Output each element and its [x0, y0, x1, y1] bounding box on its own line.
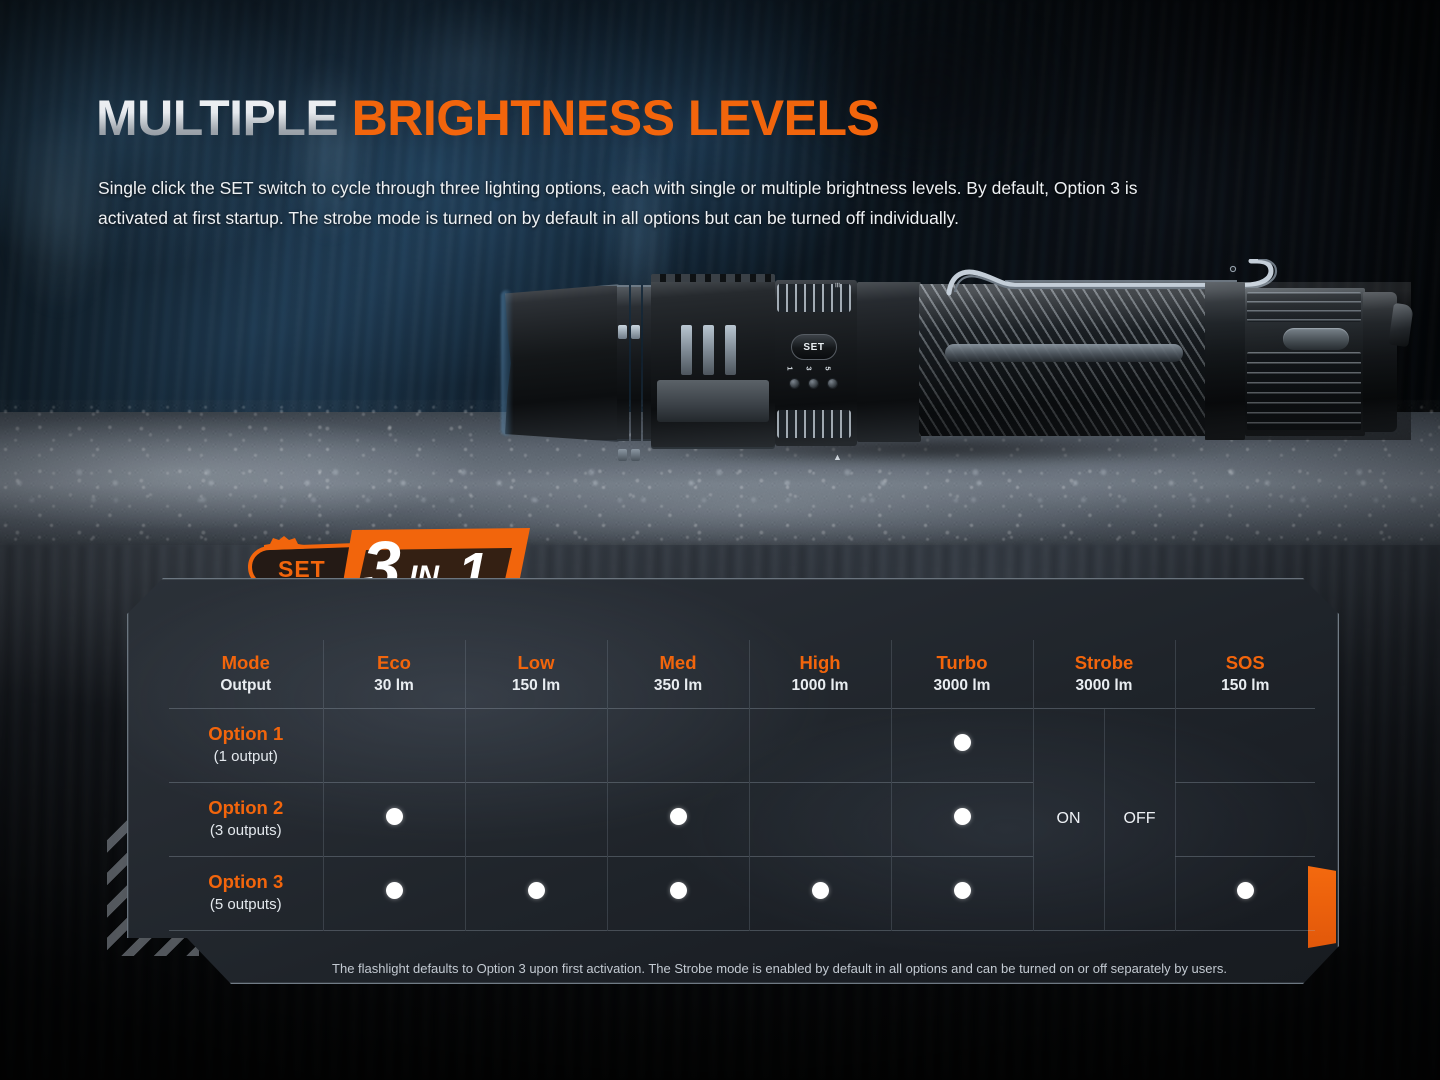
mark-dot	[1237, 882, 1254, 899]
midsection-plate	[657, 380, 769, 422]
column-header-eco: Eco 30 lm	[323, 640, 465, 708]
cell-option1-turbo	[891, 708, 1033, 782]
indicator-led-5	[827, 378, 838, 389]
cell-option3-low	[465, 856, 607, 930]
page-subtitle: Single click the SET switch to cycle thr…	[98, 173, 1168, 233]
cell-option2-sos	[1175, 782, 1315, 856]
table-row: Option 1 (1 output) ON OFF	[169, 708, 1315, 782]
column-lumens-eco: 30 lm	[324, 675, 465, 697]
strobe-on-label: ON	[1057, 810, 1081, 828]
indicator-number-5: 5	[824, 366, 833, 370]
column-header-strobe: Strobe 3000 lm	[1033, 640, 1175, 708]
battery-tube-shading	[919, 284, 1209, 436]
column-name-high: High	[750, 651, 891, 675]
cell-option2-high	[749, 782, 891, 856]
mark-dot	[954, 808, 971, 825]
table-corner-cell: Mode Output	[169, 640, 323, 708]
cooling-slot-1	[681, 325, 692, 375]
brightness-levels-table: Mode Output Eco 30 lm Low 150 lm Med 350…	[169, 640, 1315, 931]
cooling-slot-2	[703, 325, 714, 375]
mark-dot	[954, 882, 971, 899]
column-lumens-med: 350 lm	[608, 675, 749, 697]
brightness-table-panel: Mode Output Eco 30 lm Low 150 lm Med 350…	[107, 578, 1339, 984]
product-marking-glyph: ≡	[833, 282, 843, 287]
mode-indicator-leds: 1 3 5	[789, 364, 839, 392]
cell-option3-turbo	[891, 856, 1033, 930]
flashlight-head-bezel	[505, 284, 621, 442]
cell-option2-low	[465, 782, 607, 856]
row-header-option-1: Option 1 (1 output)	[169, 708, 323, 782]
column-name-med: Med	[608, 651, 749, 675]
cell-option3-sos	[1175, 856, 1315, 930]
column-name-eco: Eco	[324, 651, 465, 675]
cell-strobe-toggle: ON OFF	[1033, 708, 1175, 930]
indicator-led-3	[808, 378, 819, 389]
option-3-name: Option 3	[169, 870, 323, 894]
set-switch-label: SET	[803, 342, 824, 353]
strobe-off-cell[interactable]: OFF	[1105, 709, 1175, 930]
collar-knurling-top	[777, 284, 851, 312]
head-ring-2	[631, 285, 641, 441]
head-ring-1	[617, 285, 629, 441]
collar-knurling-bottom	[777, 410, 851, 438]
cell-option1-high	[749, 708, 891, 782]
column-lumens-low: 150 lm	[466, 675, 607, 697]
cell-option3-high	[749, 856, 891, 930]
column-header-low: Low 150 lm	[465, 640, 607, 708]
cell-option1-med	[607, 708, 749, 782]
cooling-slot-3	[725, 325, 736, 375]
mark-dot	[386, 808, 403, 825]
set-switch-button[interactable]: SET	[791, 334, 837, 360]
column-name-low: Low	[466, 651, 607, 675]
column-name-sos: SOS	[1176, 651, 1316, 675]
column-lumens-strobe: 3000 lm	[1034, 675, 1175, 697]
cell-option1-sos	[1175, 708, 1315, 782]
head-ring-3	[643, 285, 651, 441]
cell-option3-med	[607, 856, 749, 930]
column-header-turbo: Turbo 3000 lm	[891, 640, 1033, 708]
option-2-sub: (3 outputs)	[169, 820, 323, 842]
mark-dot	[954, 734, 971, 751]
page-title: MULTIPLE BRIGHTNESS LEVELS	[96, 93, 879, 143]
option-2-name: Option 2	[169, 796, 323, 820]
mark-dot	[528, 882, 545, 899]
cell-option1-low	[465, 708, 607, 782]
indicator-number-1: 1	[786, 366, 795, 370]
column-name-turbo: Turbo	[892, 651, 1033, 675]
mode-header-title: Mode	[169, 651, 323, 675]
cell-option2-eco	[323, 782, 465, 856]
option-3-sub: (5 outputs)	[169, 894, 323, 916]
strobe-on-cell[interactable]: ON	[1034, 709, 1105, 930]
row-header-option-3: Option 3 (5 outputs)	[169, 856, 323, 930]
body-shoulder	[857, 282, 921, 442]
column-header-med: Med 350 lm	[607, 640, 749, 708]
cell-option1-eco	[323, 708, 465, 782]
column-header-sos: SOS 150 lm	[1175, 640, 1315, 708]
strobe-off-label: OFF	[1124, 810, 1156, 828]
bezel-rim-highlight	[501, 290, 513, 436]
row-header-option-2: Option 2 (3 outputs)	[169, 782, 323, 856]
page-title-accent: BRIGHTNESS LEVELS	[352, 90, 880, 146]
mark-dot	[670, 808, 687, 825]
cell-option3-eco	[323, 856, 465, 930]
midsection-fins	[651, 274, 775, 282]
page-title-primary: MULTIPLE	[96, 90, 352, 146]
table-header-row: Mode Output Eco 30 lm Low 150 lm Med 350…	[169, 640, 1315, 708]
table-footnote: The flashlight defaults to Option 3 upon…	[242, 960, 1317, 978]
flashlight-product-image: SET 1 3 5 ≡ ▲	[505, 252, 1425, 482]
product-warning-glyph: ▲	[833, 452, 842, 462]
mark-dot	[386, 882, 403, 899]
indicator-number-3: 3	[805, 366, 814, 370]
column-lumens-high: 1000 lm	[750, 675, 891, 697]
mark-dot	[670, 882, 687, 899]
column-lumens-sos: 150 lm	[1176, 675, 1316, 697]
cell-option2-turbo	[891, 782, 1033, 856]
option-1-name: Option 1	[169, 722, 323, 746]
column-name-strobe: Strobe	[1034, 651, 1175, 675]
cell-option2-med	[607, 782, 749, 856]
mark-dot	[812, 882, 829, 899]
column-lumens-turbo: 3000 lm	[892, 675, 1033, 697]
flashlight-midsection	[651, 277, 775, 449]
tail-shading	[1205, 282, 1411, 440]
column-header-high: High 1000 lm	[749, 640, 891, 708]
mode-header-sub: Output	[169, 675, 323, 697]
option-1-sub: (1 output)	[169, 746, 323, 768]
indicator-led-1	[789, 378, 800, 389]
